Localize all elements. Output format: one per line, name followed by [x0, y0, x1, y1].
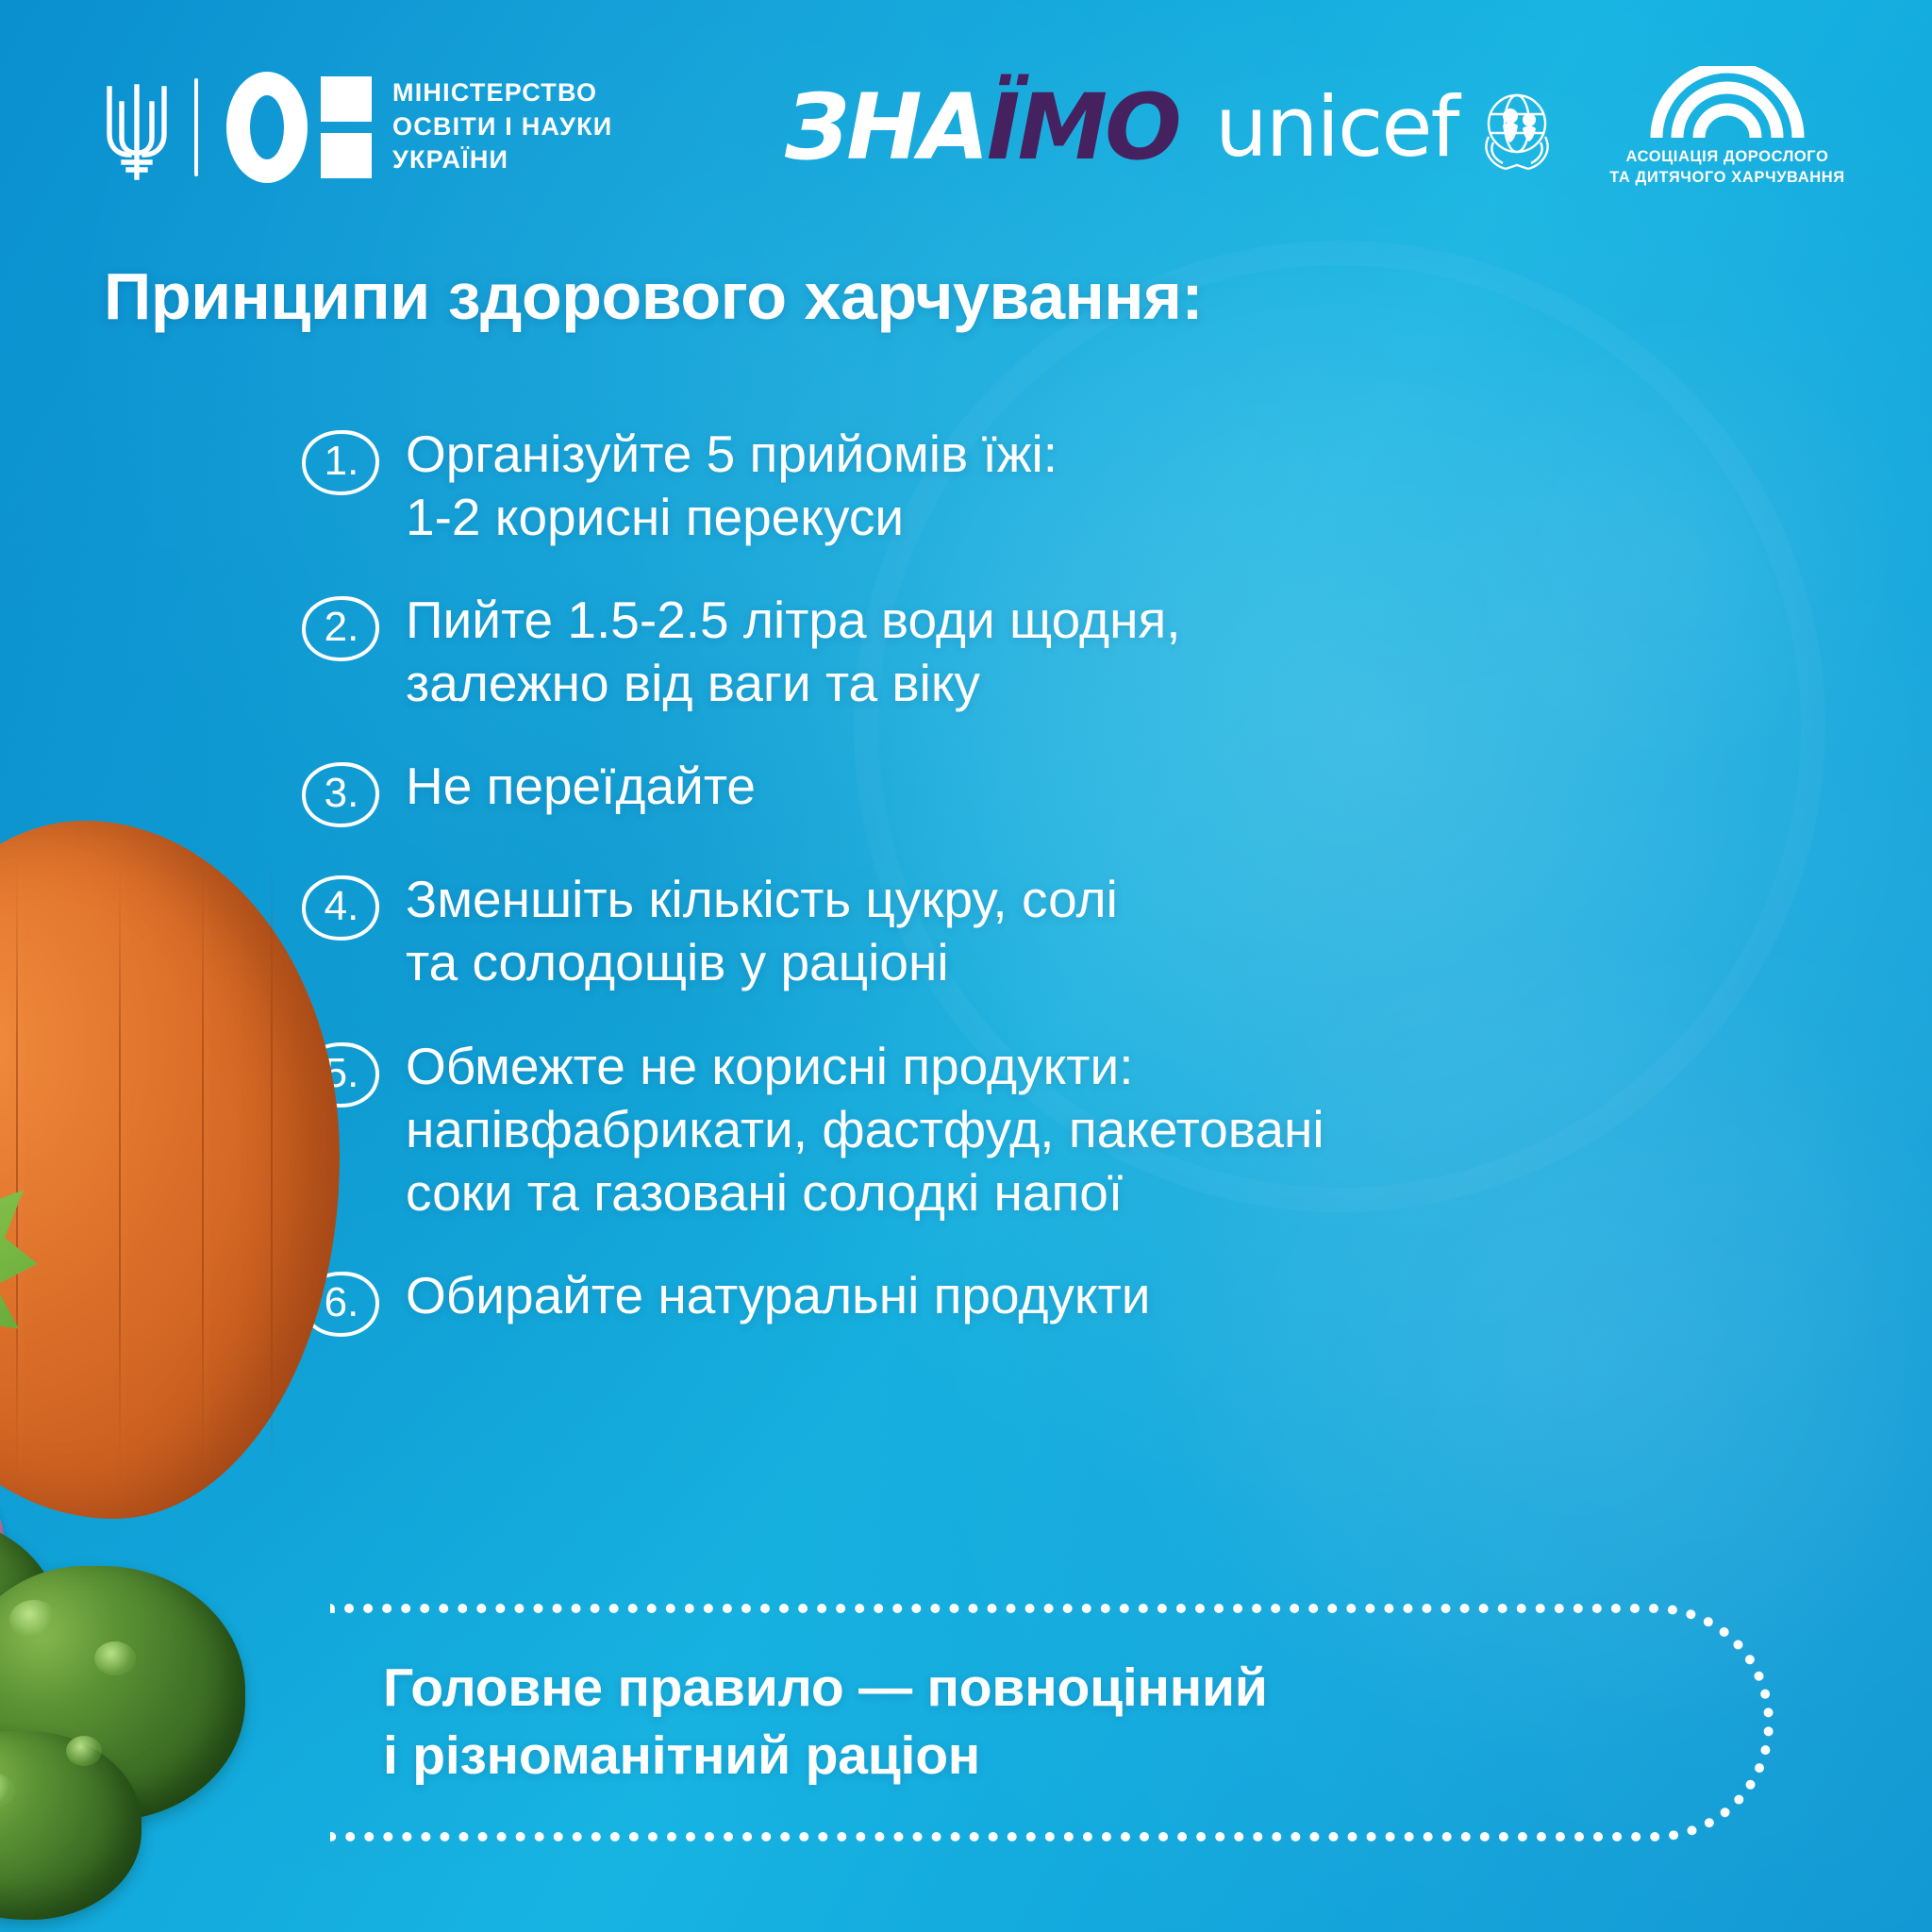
number-label: 5.: [300, 1041, 381, 1108]
association-logo-text: АСОЦІАЦІЯ ДОРОСЛОГО ТА ДИТЯЧОГО ХАРЧУВАН…: [1609, 146, 1845, 189]
item-line: Обирайте натуральні продукти: [406, 1264, 1151, 1327]
znaimo-purple-part: ЇМО: [987, 82, 1179, 173]
association-line-1: АСОЦІАЦІЯ ДОРОСЛОГО: [1609, 146, 1845, 167]
number-label: 2.: [300, 594, 381, 662]
mon-symbol: [226, 72, 372, 183]
unicef-wordmark: unicef: [1215, 86, 1458, 169]
item-line: Пийте 1.5-2.5 літра води щодня,: [406, 589, 1181, 652]
principles-list: 1. Організуйте 5 прийомів їжі: 1-2 корис…: [300, 423, 1772, 1338]
callout-line: і різноманітний раціон: [383, 1723, 1268, 1790]
unicef-globe-emblem-icon: [1468, 78, 1566, 176]
ministry-logo-text: МІНІСТЕРСТВО ОСВІТИ І НАУКИ УКРАЇНИ: [392, 76, 612, 178]
list-item: 2. Пийте 1.5-2.5 літра води щодня, залеж…: [300, 589, 1772, 715]
header-logo-bar: МІНІСТЕРСТВО ОСВІТИ І НАУКИ УКРАЇНИ ЗНА …: [0, 58, 1932, 195]
ministry-line-2: ОСВІТИ І НАУКИ: [392, 110, 612, 144]
list-item: 6. Обирайте натуральні продукти: [300, 1264, 1772, 1338]
item-line: Організуйте 5 прийомів їжі:: [406, 423, 1058, 486]
pumpkin-image: [0, 821, 340, 1519]
ukraine-trident-icon: [102, 72, 172, 183]
main-rule-callout: Головне правило — повноцінний і різноман…: [330, 1604, 1774, 1841]
item-text: Організуйте 5 прийомів їжі: 1-2 корисні …: [406, 423, 1058, 549]
ministry-line-3: УКРАЇНИ: [392, 143, 612, 177]
association-logo: АСОЦІАЦІЯ ДОРОСЛОГО ТА ДИТЯЧОГО ХАРЧУВАН…: [1609, 58, 1845, 195]
number-badge-5: 5.: [300, 1041, 381, 1108]
item-line: Обмежте не корисні продукти:: [406, 1035, 1324, 1098]
unicef-logo: unicef: [1215, 58, 1566, 195]
number-badge-1: 1.: [300, 428, 381, 496]
association-line-2: ТА ДИТЯЧОГО ХАРЧУВАННЯ: [1609, 167, 1845, 188]
mon-bars-icon: [321, 76, 372, 178]
number-badge-4: 4.: [300, 874, 381, 941]
item-text: Зменшіть кількість цукру, солі та солодо…: [406, 868, 1118, 994]
item-line: та солодощів у раціоні: [406, 931, 1118, 994]
mon-circle-icon: [226, 72, 308, 183]
ministry-of-education-logo: МІНІСТЕРСТВО ОСВІТИ І НАУКИ УКРАЇНИ: [102, 58, 612, 195]
number-label: 4.: [300, 874, 381, 941]
rainbow-arc-icon: [1647, 66, 1807, 140]
number-badge-3: 3.: [300, 760, 381, 828]
item-line: Зменшіть кількість цукру, солі: [406, 868, 1118, 931]
item-line: соки та газовані солодкі напої: [406, 1161, 1324, 1224]
list-item: 1. Організуйте 5 прийомів їжі: 1-2 корис…: [300, 423, 1772, 549]
item-text: Обмежте не корисні продукти: напівфабрик…: [406, 1035, 1324, 1224]
grape-image: [0, 1462, 5, 1627]
number-badge-2: 2.: [300, 594, 381, 662]
logo-divider: [194, 78, 198, 176]
number-label: 6.: [300, 1270, 381, 1338]
item-text: Пийте 1.5-2.5 літра води щодня, залежно …: [406, 589, 1181, 715]
item-line: 1-2 корисні перекуси: [406, 486, 1058, 549]
item-line: Не переїдайте: [406, 755, 756, 818]
item-line: напівфабрикати, фастфуд, пакетовані: [406, 1098, 1324, 1161]
green-leaf-image: [0, 1151, 38, 1368]
list-item: 3. Не переїдайте: [300, 755, 1772, 828]
number-label: 1.: [300, 428, 381, 496]
item-line: залежно від ваги та віку: [406, 652, 1181, 715]
callout-line: Головне правило — повноцінний: [383, 1655, 1268, 1723]
infographic-poster: МІНІСТЕРСТВО ОСВІТИ І НАУКИ УКРАЇНИ ЗНА …: [0, 0, 1932, 1932]
callout-text: Головне правило — повноцінний і різноман…: [330, 1655, 1268, 1790]
number-label: 3.: [300, 760, 381, 828]
page-title: Принципи здорового харчування:: [104, 262, 1613, 332]
item-text: Обирайте натуральні продукти: [406, 1264, 1151, 1327]
znaimo-white-part: ЗНА: [785, 82, 987, 173]
znaimo-logo: ЗНА ЇМО: [785, 58, 1179, 195]
item-text: Не переїдайте: [406, 755, 756, 818]
number-badge-6: 6.: [300, 1270, 381, 1338]
broccoli-image: [0, 1509, 274, 1915]
list-item: 5. Обмежте не корисні продукти: напівфаб…: [300, 1035, 1772, 1224]
list-item: 4. Зменшіть кількість цукру, солі та сол…: [300, 868, 1772, 994]
ministry-line-1: МІНІСТЕРСТВО: [392, 76, 612, 110]
